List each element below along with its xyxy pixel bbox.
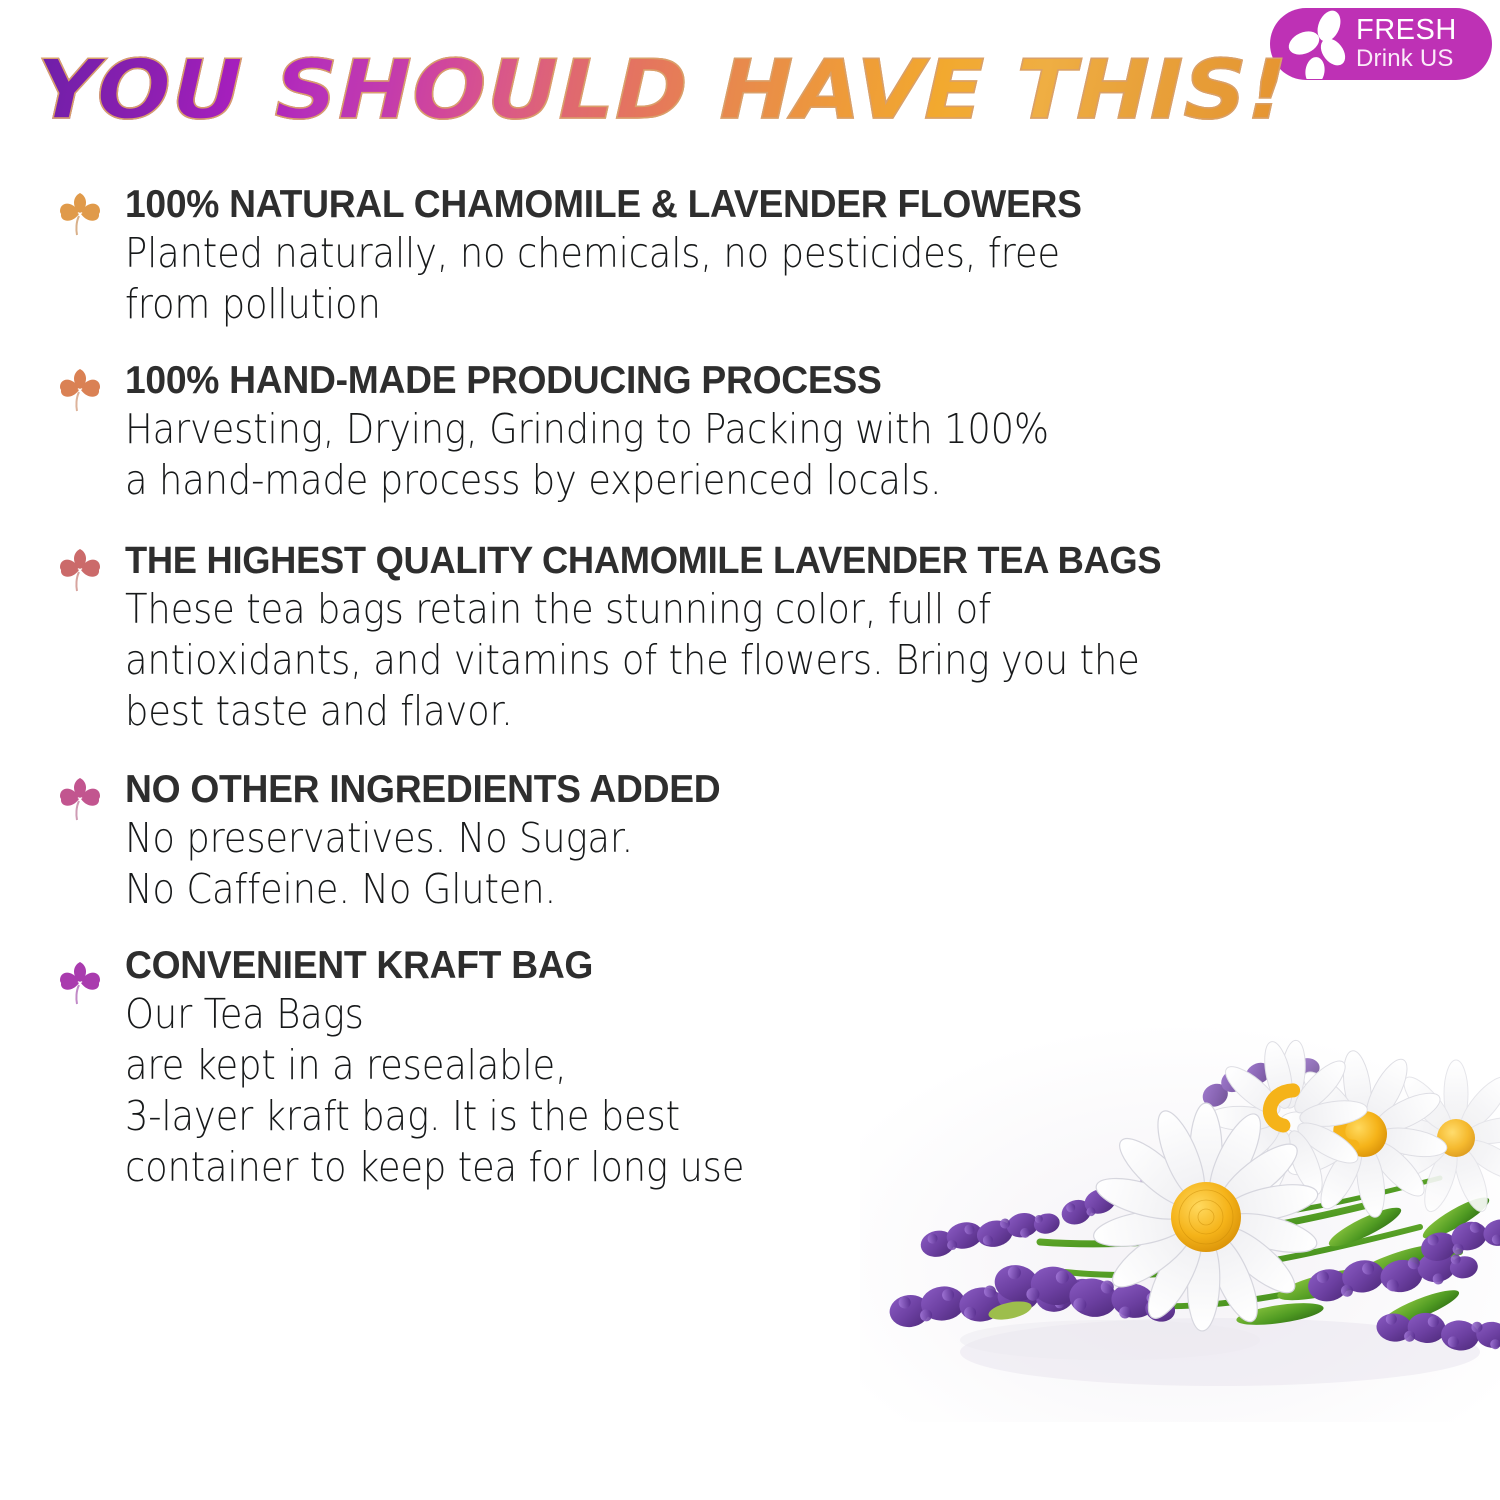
feature-item-highest-quality: THE HIGHEST QUALITY CHAMOMILE LAVENDER T… [0,538,1500,737]
page-title: YOU SHOULD HAVE THIS! [35,50,1289,132]
feature-heading: CONVENIENT KRAFT BAG [125,943,1438,989]
feature-body: Planted naturally, no chemicals, no pest… [125,228,1363,330]
feature-body: These tea bags retain the stunning color… [125,584,1363,737]
feature-body-line: container to keep tea for long use [125,1142,1363,1193]
feature-body-line: antioxidants, and vitamins of the flower… [125,635,1363,686]
infographic-page: FRESH Drink US YOU SHOULD HAVE THIS! [0,0,1500,1500]
four-leaf-clover-icon [58,544,102,592]
feature-body-line: a hand-made process by experienced local… [125,455,1363,506]
flower-leaf-icon [1280,9,1354,79]
feature-heading: 100% HAND-MADE PRODUCING PROCESS [125,358,1438,404]
feature-body-line: are kept in a resealable, [125,1040,1363,1091]
feature-item-no-other-ingredients: NO OTHER INGREDIENTS ADDED No preservati… [0,767,1500,915]
feature-item-kraft-bag: CONVENIENT KRAFT BAG Our Tea Bags are ke… [0,943,1500,1193]
brand-wordmark: FRESH Drink US [1356,16,1457,72]
four-leaf-clover-icon [58,773,102,821]
feature-body-line: Our Tea Bags [125,989,1363,1040]
feature-body: Our Tea Bags are kept in a resealable, 3… [125,989,1363,1193]
feature-body-line: from pollution [125,279,1363,330]
feature-body-line: These tea bags retain the stunning color… [125,584,1363,635]
brand-logo[interactable]: FRESH Drink US [1270,8,1492,80]
feature-body-line: best taste and flavor. [125,686,1363,737]
four-leaf-clover-icon [58,364,102,412]
feature-list: 100% NATURAL CHAMOMILE & LAVENDER FLOWER… [0,182,1500,1193]
feature-item-hand-made: 100% HAND-MADE PRODUCING PROCESS Harvest… [0,358,1500,506]
feature-body: No preservatives. No Sugar. No Caffeine.… [125,813,1363,915]
feature-item-natural-flowers: 100% NATURAL CHAMOMILE & LAVENDER FLOWER… [0,182,1500,330]
brand-name-primary: FRESH [1356,16,1457,45]
feature-heading: NO OTHER INGREDIENTS ADDED [125,767,1438,813]
feature-body: Harvesting, Drying, Grinding to Packing … [125,404,1363,506]
four-leaf-clover-icon [58,188,102,236]
feature-body-line: No Caffeine. No Gluten. [125,864,1363,915]
brand-name-secondary: Drink US [1356,45,1457,72]
feature-heading: 100% NATURAL CHAMOMILE & LAVENDER FLOWER… [125,182,1438,228]
feature-body-line: Harvesting, Drying, Grinding to Packing … [125,404,1363,455]
four-leaf-clover-icon [58,957,102,1005]
feature-heading: THE HIGHEST QUALITY CHAMOMILE LAVENDER T… [125,538,1438,584]
feature-body-line: 3-layer kraft bag. It is the best [125,1091,1363,1142]
feature-body-line: No preservatives. No Sugar. [125,813,1363,864]
feature-body-line: Planted naturally, no chemicals, no pest… [125,228,1363,279]
